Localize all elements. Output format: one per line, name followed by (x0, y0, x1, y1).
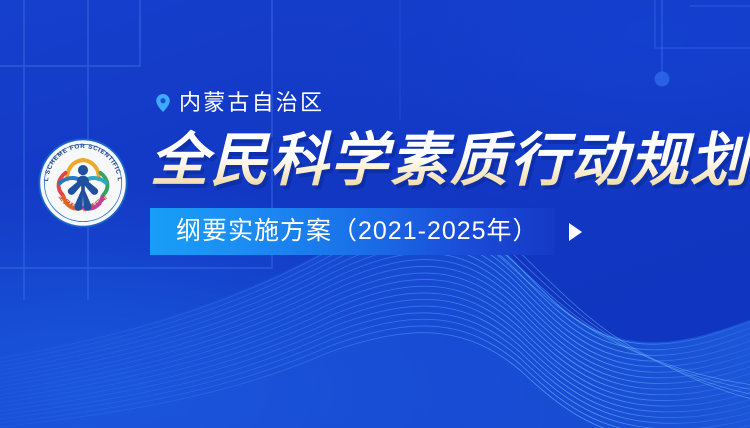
promo-banner: NATIONAL SCHEME FOR SCIENTIFIC LITERACY … (0, 0, 750, 428)
national-scheme-for-scientific-literacy-logo: NATIONAL SCHEME FOR SCIENTIFIC LITERACY … (37, 137, 129, 229)
region-label: 内蒙古自治区 (179, 92, 324, 114)
subtitle-row: 纲要实施方案（2021-2025年） (150, 208, 582, 255)
subtitle-bar[interactable]: 纲要实施方案（2021-2025年） (150, 208, 555, 255)
location-pin-icon (156, 94, 170, 112)
subtitle-label: 纲要实施方案（2021-2025年） (176, 219, 539, 244)
page-title: 全民科学素质行动规划 (150, 127, 750, 195)
region-row: 内蒙古自治区 (156, 92, 324, 114)
play-triangle-icon[interactable] (569, 223, 582, 241)
